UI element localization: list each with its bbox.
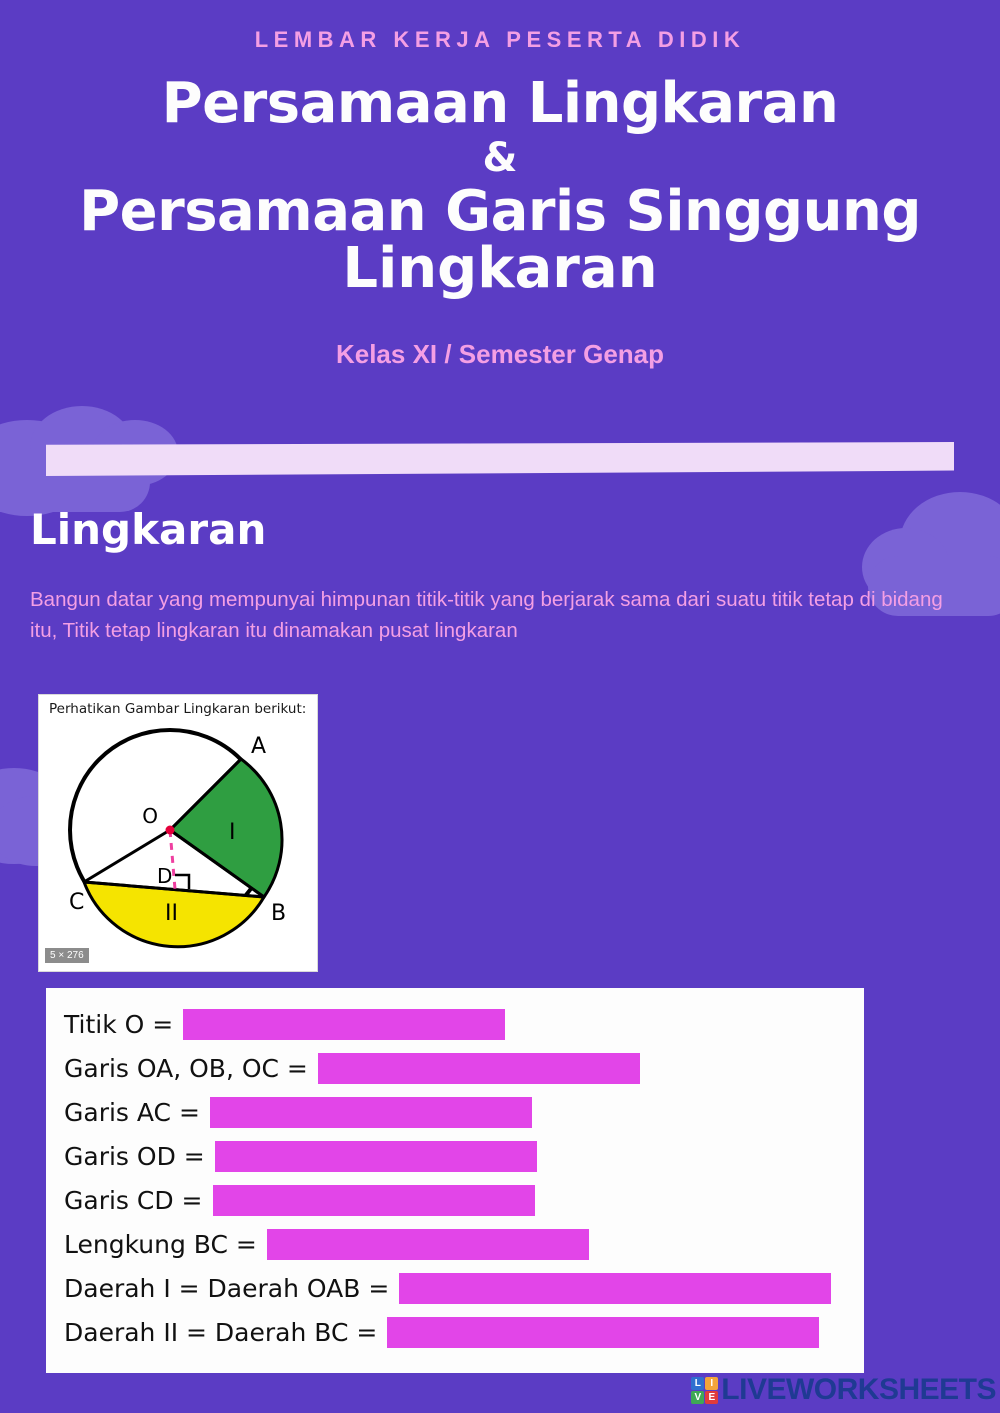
page-title-line2: Persamaan Garis Singgung [0, 183, 1000, 240]
label-point-d: D [157, 864, 172, 888]
page-subtitle: Kelas XI / Semester Genap [0, 339, 1000, 370]
answer-row: Garis CD = [64, 1178, 864, 1222]
answer-input-garis-oa-ob-oc[interactable] [318, 1053, 640, 1084]
label-point-a: A [251, 734, 266, 759]
answer-input-garis-ac[interactable] [210, 1097, 532, 1128]
answer-input-daerah-i-oab[interactable] [399, 1273, 831, 1304]
circle-figure-card: Perhatikan Gambar Lingkaran berikut: O [38, 694, 318, 972]
answer-input-titik-o[interactable] [183, 1009, 505, 1040]
answer-input-lengkung-bc[interactable] [267, 1229, 589, 1260]
answer-row: Daerah II = Daerah BC = [64, 1310, 864, 1354]
answer-form: Titik O = Garis OA, OB, OC = Garis AC = … [46, 988, 864, 1373]
label-point-b: B [271, 901, 286, 926]
page-title-ampersand: & [0, 138, 1000, 179]
logo-wordmark: LIVEWORKSHEETS [721, 1373, 996, 1407]
label-region-one: I [229, 820, 236, 845]
center-point-marker [166, 826, 175, 835]
answer-input-daerah-ii-bc[interactable] [387, 1317, 819, 1348]
liveworksheets-logo[interactable]: L I V E LIVEWORKSHEETS [691, 1373, 996, 1407]
logo-tile-i: I [705, 1377, 718, 1390]
label-center-o: O [142, 804, 158, 828]
logo-tile-v: V [691, 1391, 704, 1404]
logo-tiles-icon: L I V E [691, 1377, 718, 1404]
answer-row: Titik O = [64, 1002, 864, 1046]
logo-tile-e: E [705, 1391, 718, 1404]
answer-label: Garis AC = [64, 1098, 200, 1127]
answer-label: Garis CD = [64, 1186, 203, 1215]
answer-label: Lengkung BC = [64, 1230, 257, 1259]
label-region-two: II [165, 901, 178, 926]
circle-diagram: O A B C D I II [53, 717, 303, 951]
answer-row: Garis AC = [64, 1090, 864, 1134]
logo-tile-l: L [691, 1377, 704, 1390]
section-title: Lingkaran [30, 505, 266, 554]
worksheet-header: LEMBAR KERJA PESERTA DIDIK Persamaan Lin… [0, 0, 1000, 432]
answer-label: Garis OA, OB, OC = [64, 1054, 308, 1083]
figure-size-watermark: 5 × 276 [45, 948, 89, 963]
header-eyebrow: LEMBAR KERJA PESERTA DIDIK [0, 27, 1000, 53]
answer-row: Daerah I = Daerah OAB = [64, 1266, 864, 1310]
answer-input-garis-od[interactable] [215, 1141, 537, 1172]
label-point-c: C [69, 890, 84, 915]
ribbon-divider [46, 442, 954, 476]
answer-input-garis-cd[interactable] [213, 1185, 535, 1216]
figure-caption: Perhatikan Gambar Lingkaran berikut: [39, 695, 317, 717]
answer-row: Lengkung BC = [64, 1222, 864, 1266]
answer-row: Garis OA, OB, OC = [64, 1046, 864, 1090]
page-title-line1: Persamaan Lingkaran [0, 75, 1000, 132]
worksheet-page: LEMBAR KERJA PESERTA DIDIK Persamaan Lin… [0, 0, 1000, 1413]
page-title-line3: Lingkaran [0, 240, 1000, 297]
answer-label: Daerah I = Daerah OAB = [64, 1274, 389, 1303]
section-body-text: Bangun datar yang mempunyai himpunan tit… [30, 584, 950, 646]
answer-row: Garis OD = [64, 1134, 864, 1178]
answer-label: Daerah II = Daerah BC = [64, 1318, 377, 1347]
answer-label: Garis OD = [64, 1142, 205, 1171]
answer-label: Titik O = [64, 1010, 173, 1039]
